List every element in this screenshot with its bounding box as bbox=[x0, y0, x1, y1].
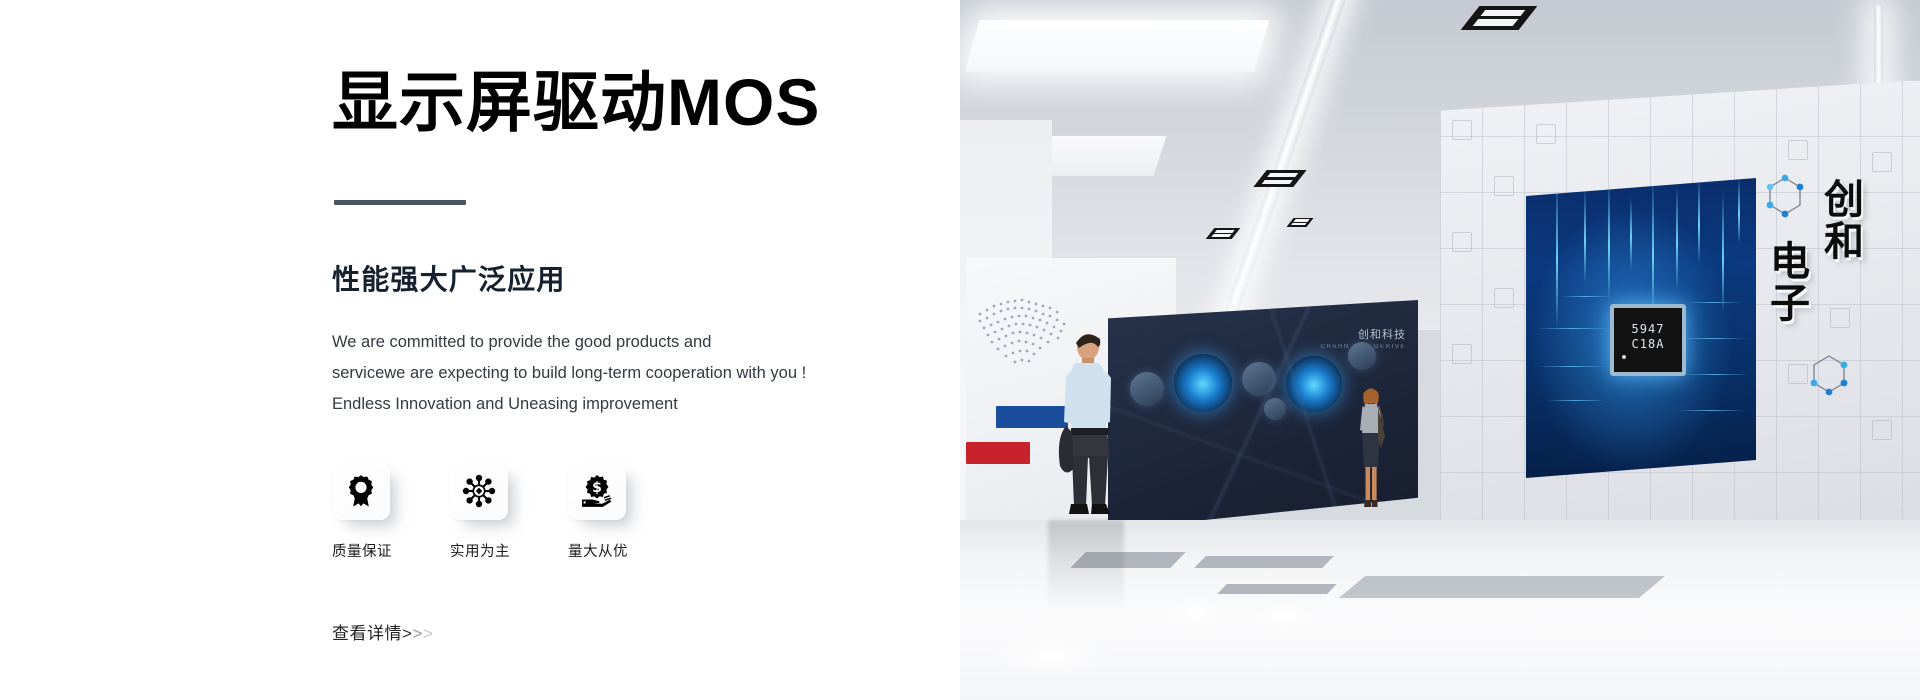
person-man bbox=[1048, 330, 1124, 520]
floor-inset-strip bbox=[1217, 584, 1337, 594]
chip-label-line2: C18A bbox=[1632, 337, 1665, 352]
wall-circle-photo bbox=[1130, 372, 1164, 406]
led-chip-display-screen: 5947 C18A bbox=[1526, 178, 1756, 478]
description-line-3: Endless Innovation and Uneasing improvem… bbox=[332, 389, 892, 420]
brand-signage: 创和 电子 bbox=[1760, 178, 1890, 408]
feature-list: 质量保证 bbox=[332, 462, 626, 561]
feature-badge bbox=[332, 462, 390, 520]
chevron-3-icon: > bbox=[423, 624, 433, 643]
description-line-2: servicewe are expecting to build long-te… bbox=[332, 358, 892, 389]
showroom-interior-photo: 创和科技 CHAHN YOU DERIVE bbox=[960, 0, 1920, 700]
feature-item-practical[interactable]: 实用为主 bbox=[450, 462, 508, 561]
description-text: We are committed to provide the good pro… bbox=[332, 327, 892, 420]
view-details-link[interactable]: 查看详情>>> bbox=[332, 619, 433, 644]
person-woman bbox=[1356, 386, 1386, 508]
section-subtitle: 性能强大广泛应用 bbox=[332, 258, 566, 298]
product-banner: 创和科技 CHAHN YOU DERIVE bbox=[0, 0, 1920, 700]
chip-package: 5947 C18A bbox=[1610, 304, 1686, 376]
hand-money-icon: $ bbox=[580, 474, 614, 508]
wall-circle-photo bbox=[1242, 362, 1276, 396]
network-hub-icon bbox=[462, 474, 496, 508]
svg-text:$: $ bbox=[592, 480, 602, 496]
hexagon-molecule-icon bbox=[1762, 172, 1808, 230]
feature-label: 质量保证 bbox=[332, 540, 392, 561]
page-title: 显示屏驱动MOS bbox=[332, 62, 820, 143]
brand-sign-column-left: 电子 bbox=[1764, 240, 1808, 324]
title-divider bbox=[334, 200, 466, 205]
navy-wall-heading: 创和科技 bbox=[1358, 326, 1406, 342]
hexagon-molecule-icon bbox=[1806, 350, 1852, 408]
wall-circle-photo bbox=[1348, 342, 1376, 370]
navy-wall-subheading: CHAHN YOU DERIVE bbox=[1320, 344, 1406, 350]
wall-circle-chip bbox=[1174, 354, 1232, 412]
brand-sign-column-right: 创和 bbox=[1818, 178, 1862, 262]
wall-sign-red bbox=[966, 442, 1030, 464]
left-content-panel: 显示屏驱动MOS 性能强大广泛应用 We are committed to pr… bbox=[0, 0, 960, 700]
description-line-1: We are committed to provide the good pro… bbox=[332, 327, 892, 358]
feature-item-quality[interactable]: 质量保证 bbox=[332, 462, 390, 561]
chip-label-line1: 5947 bbox=[1632, 322, 1665, 337]
feature-badge: $ bbox=[568, 462, 626, 520]
floor-light-reflection bbox=[990, 636, 1110, 676]
wall-circle-chip bbox=[1286, 356, 1342, 412]
floor-inset-strip bbox=[1339, 576, 1665, 598]
person-floor-reflection bbox=[1048, 520, 1124, 610]
floor-light-reflection bbox=[1160, 596, 1230, 630]
feature-item-bulk-discount[interactable]: $ 量大从优 bbox=[568, 462, 626, 561]
skylight-panel bbox=[965, 20, 1270, 72]
view-details-label: 查看详情 bbox=[332, 624, 402, 643]
floor-light-reflection bbox=[1250, 600, 1316, 632]
chevron-1-icon: > bbox=[402, 624, 412, 643]
wall-circle-photo bbox=[1264, 398, 1286, 420]
feature-label: 量大从优 bbox=[568, 540, 628, 561]
award-ribbon-icon bbox=[344, 474, 378, 508]
floor-inset-strip bbox=[1194, 556, 1334, 568]
chevron-2-icon: > bbox=[412, 624, 422, 643]
feature-badge bbox=[450, 462, 508, 520]
feature-label: 实用为主 bbox=[450, 540, 510, 561]
